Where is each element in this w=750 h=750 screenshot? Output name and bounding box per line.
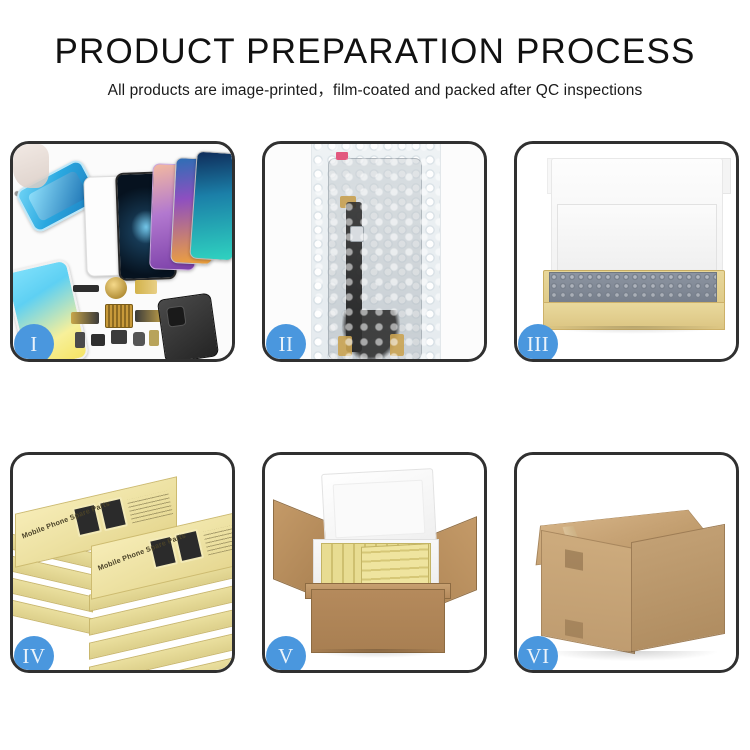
carton-left-face-icon <box>541 530 635 654</box>
strip-part-icon <box>73 285 99 292</box>
step-image-2 <box>265 144 484 359</box>
step-panel-6: VI <box>514 452 739 673</box>
header: PRODUCT PREPARATION PROCESS All products… <box>0 32 750 101</box>
page-subtitle: All products are image-printed，film-coat… <box>0 81 750 101</box>
teal-phone-icon <box>189 151 232 262</box>
flex-cable-icon-1 <box>135 280 157 294</box>
step-panel-4: Mobile Phone Spare Parts Mobile Phone Sp… <box>10 452 235 673</box>
red-marker-icon <box>336 152 348 160</box>
foam-lid-front-icon <box>557 204 717 278</box>
foam-lid-open-icon <box>321 468 437 550</box>
small-part-icon-3 <box>111 330 127 344</box>
step-badge-6: VI <box>518 636 558 673</box>
step-image-1 <box>13 144 232 359</box>
carton-front-icon <box>311 589 445 653</box>
step-badge-3: III <box>518 324 558 362</box>
step-image-5 <box>265 455 484 670</box>
page-title: PRODUCT PREPARATION PROCESS <box>0 32 750 72</box>
step-image-3 <box>517 144 736 359</box>
step-badge-1: I <box>14 324 54 362</box>
carton-right-face-icon <box>631 524 725 652</box>
phones-and-parts-scene <box>13 144 232 359</box>
step-panel-1: I <box>10 141 235 362</box>
gold-connector-icon-3 <box>390 334 404 356</box>
step-image-4: Mobile Phone Spare Parts Mobile Phone Sp… <box>13 455 232 670</box>
carton-shadow <box>311 649 443 658</box>
hand-icon <box>13 144 49 188</box>
carton-mark-icon-2 <box>565 619 583 638</box>
sealed-carton-shadow <box>547 651 717 661</box>
small-part-icon-4 <box>133 332 145 346</box>
product-preparation-infographic: PRODUCT PREPARATION PROCESS All products… <box>0 0 750 750</box>
coil-part-icon <box>105 277 127 299</box>
step-panel-2: II <box>262 141 487 362</box>
bubble-wrap-scene <box>265 144 484 359</box>
step-badge-5: V <box>266 636 306 673</box>
chip-part-icon <box>105 304 133 328</box>
carton-mark-icon-1 <box>565 549 583 570</box>
small-part-icon-1 <box>75 332 85 348</box>
step-panel-3: III <box>514 141 739 362</box>
grey-bubble-padding-icon <box>549 272 717 304</box>
small-part-icon-5 <box>149 330 159 346</box>
steps-grid: I II <box>10 141 740 671</box>
step-badge-4: IV <box>14 636 54 673</box>
stacked-boxes-scene: Mobile Phone Spare Parts Mobile Phone Sp… <box>13 455 232 670</box>
step-panel-5: V <box>262 452 487 673</box>
connector-icon <box>350 226 364 242</box>
flex-cable-icon-2 <box>71 312 99 324</box>
sealed-carton-scene <box>517 455 736 670</box>
small-part-icon-2 <box>91 334 105 346</box>
carton-packing-scene <box>265 455 484 670</box>
step-image-6 <box>517 455 736 670</box>
back-housing-icon <box>157 293 219 359</box>
step-badge-2: II <box>266 324 306 362</box>
gold-connector-icon-2 <box>338 336 352 356</box>
yellow-boxes-icon-2 <box>361 543 429 589</box>
bubble-wrap-sheet-icon <box>311 144 441 359</box>
foam-box-scene <box>517 144 736 359</box>
box-shadow <box>543 326 723 334</box>
